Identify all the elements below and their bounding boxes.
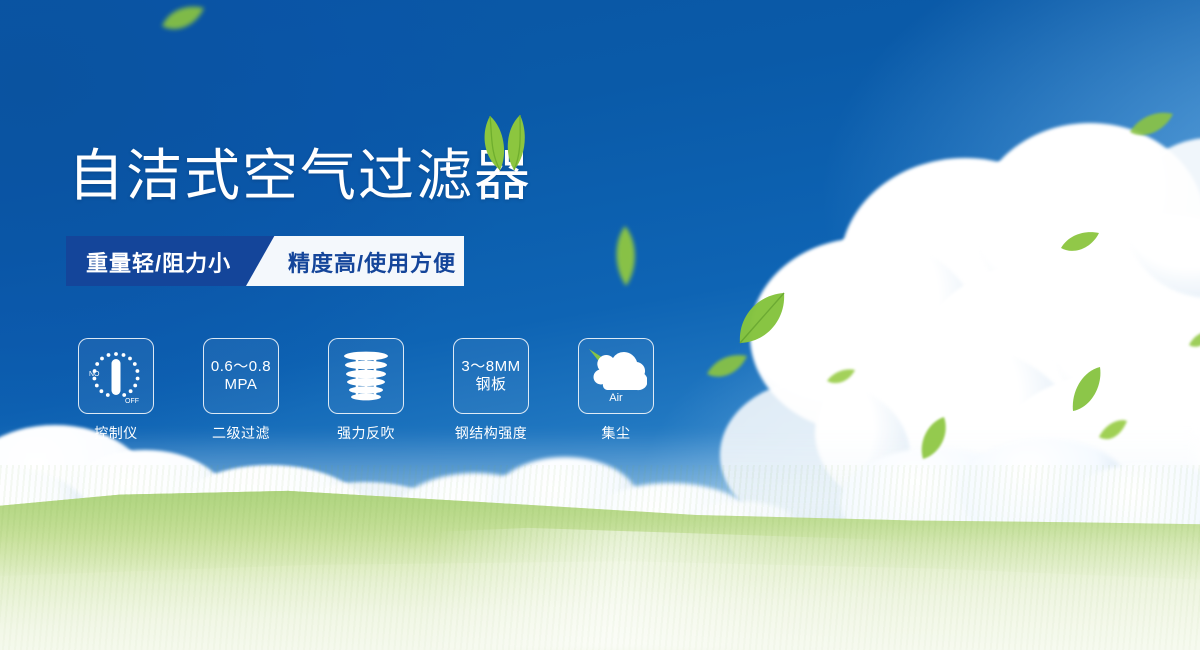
subtitle-left-block: 重量轻/阻力小 <box>66 236 276 286</box>
subtitle-left-text: 重量轻/阻力小 <box>86 246 231 278</box>
grass-foreground-glow <box>0 540 1200 650</box>
product-banner: 自洁式空气过滤器 重量轻/阻力小 精度高/使用方便 <box>0 0 1200 650</box>
subtitle-right-block: 精度高/使用方便 <box>246 236 464 286</box>
feature-item-steel-strength[interactable]: 3～8MM 钢板 钢结构强度 <box>453 338 529 443</box>
feature-item-dust-collection[interactable]: Air 集尘 <box>578 338 654 443</box>
subtitle-right-text: 精度高/使用方便 <box>288 246 456 278</box>
pressure-line2: MPA <box>211 376 271 394</box>
feature-label: 集尘 <box>578 423 654 443</box>
page-title: 自洁式空气过滤器 <box>68 148 532 204</box>
feature-label: 二级过滤 <box>203 423 279 443</box>
feature-list: NO OFF 控制仪 0.6～0.8 MPA 二级过滤 <box>78 338 698 438</box>
gauge-off-label: OFF <box>125 398 139 405</box>
feature-item-control-gauge[interactable]: NO OFF 控制仪 <box>78 338 154 443</box>
pressure-line1: 0.6～0.8 <box>211 358 271 376</box>
gauge-no-label: NO <box>89 371 100 378</box>
feature-label: 钢结构强度 <box>436 423 546 443</box>
feature-item-backflush[interactable]: 强力反吹 <box>328 338 404 443</box>
pressure-text-icon: 0.6～0.8 MPA <box>211 358 271 393</box>
feature-tile: NO OFF <box>78 338 154 414</box>
feature-label: 强力反吹 <box>328 423 404 443</box>
filter-cartridge-icon <box>340 348 392 404</box>
air-cloud-icon: Air <box>585 347 647 405</box>
sprout-leaves-icon <box>470 112 540 172</box>
feature-tile: Air <box>578 338 654 414</box>
feature-tile: 0.6～0.8 MPA <box>203 338 279 414</box>
air-label: Air <box>609 392 623 404</box>
steel-plate-text-icon: 3～8MM 钢板 <box>461 358 520 393</box>
feature-label: 控制仪 <box>78 423 154 443</box>
steel-line2: 钢板 <box>461 376 520 394</box>
feature-tile: 3～8MM 钢板 <box>453 338 529 414</box>
steel-line1: 3～8MM <box>461 358 520 376</box>
gauge-icon: NO OFF <box>85 345 147 407</box>
feature-item-pressure[interactable]: 0.6～0.8 MPA 二级过滤 <box>203 338 279 443</box>
subtitle-bar: 重量轻/阻力小 精度高/使用方便 <box>66 236 464 286</box>
feature-tile <box>328 338 404 414</box>
